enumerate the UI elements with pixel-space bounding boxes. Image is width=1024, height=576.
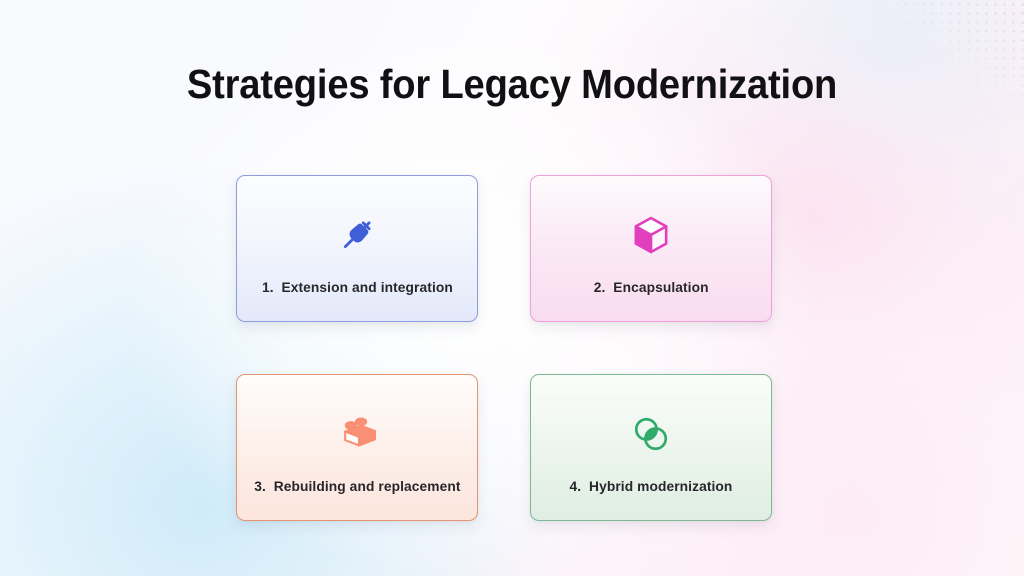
cube-icon xyxy=(628,212,674,258)
strategy-card-encapsulation[interactable]: 2. Encapsulation xyxy=(530,175,772,322)
strategy-card-grid: 1. Extension and integration xyxy=(236,175,772,521)
strategy-card-extension-and-integration[interactable]: 1. Extension and integration xyxy=(236,175,478,322)
strategy-card-rebuilding-and-replacement[interactable]: 3. Rebuilding and replacement xyxy=(236,374,478,521)
strategy-card-label: 1. Extension and integration xyxy=(262,280,453,296)
strategy-card-label: 4. Hybrid modernization xyxy=(570,479,733,495)
slide-canvas: Strategies for Legacy Modernization 1. E… xyxy=(0,0,1024,576)
page-title: Strategies for Legacy Modernization xyxy=(36,62,988,107)
venn-circles-icon xyxy=(628,411,674,457)
strategy-card-label: 3. Rebuilding and replacement xyxy=(254,479,460,495)
plug-icon xyxy=(334,212,380,258)
strategy-card-label: 2. Encapsulation xyxy=(594,280,709,296)
strategy-card-hybrid-modernization[interactable]: 4. Hybrid modernization xyxy=(530,374,772,521)
lego-brick-icon xyxy=(334,411,380,457)
